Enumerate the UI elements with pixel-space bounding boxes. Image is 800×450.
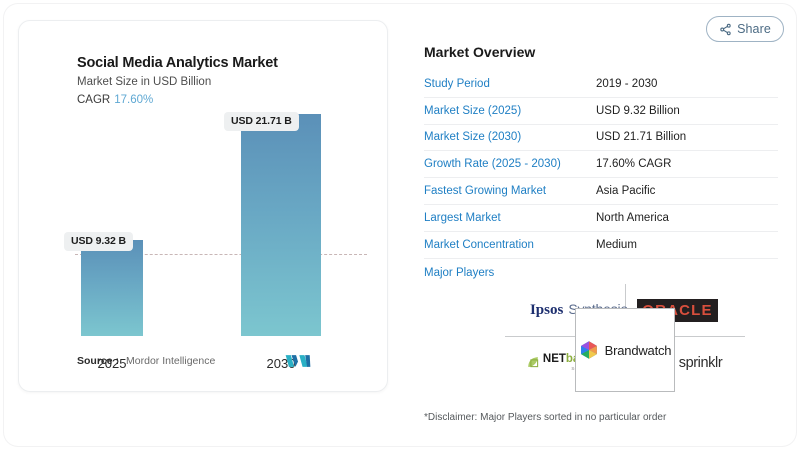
chart-card: Social Media Analytics Market Market Siz… — [18, 20, 388, 392]
source-value: Mordor Intelligence — [126, 355, 215, 367]
row-value: USD 21.71 Billion — [596, 131, 686, 143]
disclaimer-text: *Disclaimer: Major Players sorted in no … — [424, 412, 666, 423]
source-label: Source : — [77, 355, 119, 367]
row-value: USD 9.32 Billion — [596, 105, 680, 117]
brandwatch-wordmark: Brandwatch — [605, 343, 672, 358]
share-button[interactable]: Share — [706, 16, 784, 42]
row-key: Study Period — [424, 78, 596, 90]
row-key: Largest Market — [424, 212, 596, 224]
row-key: Market Size (2025) — [424, 105, 596, 117]
bar-2030 — [241, 114, 321, 336]
share-network-icon — [719, 23, 732, 36]
row-key: Market Concentration — [424, 239, 596, 251]
table-row: Market Size (2025) USD 9.32 Billion — [424, 98, 778, 125]
netbase-wordmark-net: NET — [543, 353, 566, 365]
table-row: Study Period 2019 - 2030 — [424, 71, 778, 98]
chart-cagr: CAGR17.60% — [77, 94, 153, 106]
bar-plot: USD 9.32 B USD 21.71 B 2025 2030 — [19, 116, 388, 351]
chart-subtitle: Market Size in USD Billion — [77, 76, 211, 88]
bar-2025 — [81, 240, 143, 336]
row-key: Growth Rate (2025 - 2030) — [424, 158, 596, 170]
major-players-label: Major Players — [424, 267, 596, 279]
player-logo-brandwatch: Brandwatch — [575, 308, 675, 392]
row-value: Medium — [596, 239, 637, 251]
market-overview-panel: Market Overview Study Period 2019 - 2030… — [424, 44, 778, 287]
table-row: Fastest Growing Market Asia Pacific — [424, 178, 778, 205]
mordor-intelligence-logo — [285, 353, 311, 369]
row-value: 2019 - 2030 — [596, 78, 657, 90]
major-players-row: Major Players — [424, 259, 778, 287]
chart-cagr-value: 17.60% — [114, 94, 153, 106]
source-row: Source : Mordor Intelligence — [77, 353, 367, 369]
screenshot-root: Share Social Media Analytics Market Mark… — [0, 0, 800, 450]
row-value: Asia Pacific — [596, 185, 655, 197]
brandwatch-hexagon-icon — [579, 340, 599, 360]
table-row: Growth Rate (2025 - 2030) 17.60% CAGR — [424, 151, 778, 178]
row-key: Market Size (2030) — [424, 131, 596, 143]
share-button-label: Share — [737, 22, 771, 36]
chart-title: Social Media Analytics Market — [77, 55, 278, 71]
sprinklr-wordmark: sprinklr — [679, 355, 723, 371]
ipsos-wordmark: Ipsos — [530, 302, 563, 319]
table-row: Market Concentration Medium — [424, 232, 778, 259]
row-value: North America — [596, 212, 669, 224]
netbase-leaf-icon — [526, 355, 541, 370]
major-players-grid: Ipsos Synthesio ORACLE NETbase Solutions — [505, 284, 745, 388]
table-row: Market Size (2030) USD 21.71 Billion — [424, 125, 778, 152]
overview-title: Market Overview — [424, 44, 778, 60]
table-row: Largest Market North America — [424, 205, 778, 232]
row-value: 17.60% CAGR — [596, 158, 671, 170]
bar-label-2025: USD 9.32 B — [64, 232, 133, 251]
bar-label-2030: USD 21.71 B — [224, 112, 299, 131]
row-key: Fastest Growing Market — [424, 185, 596, 197]
chart-cagr-label: CAGR — [77, 94, 110, 106]
